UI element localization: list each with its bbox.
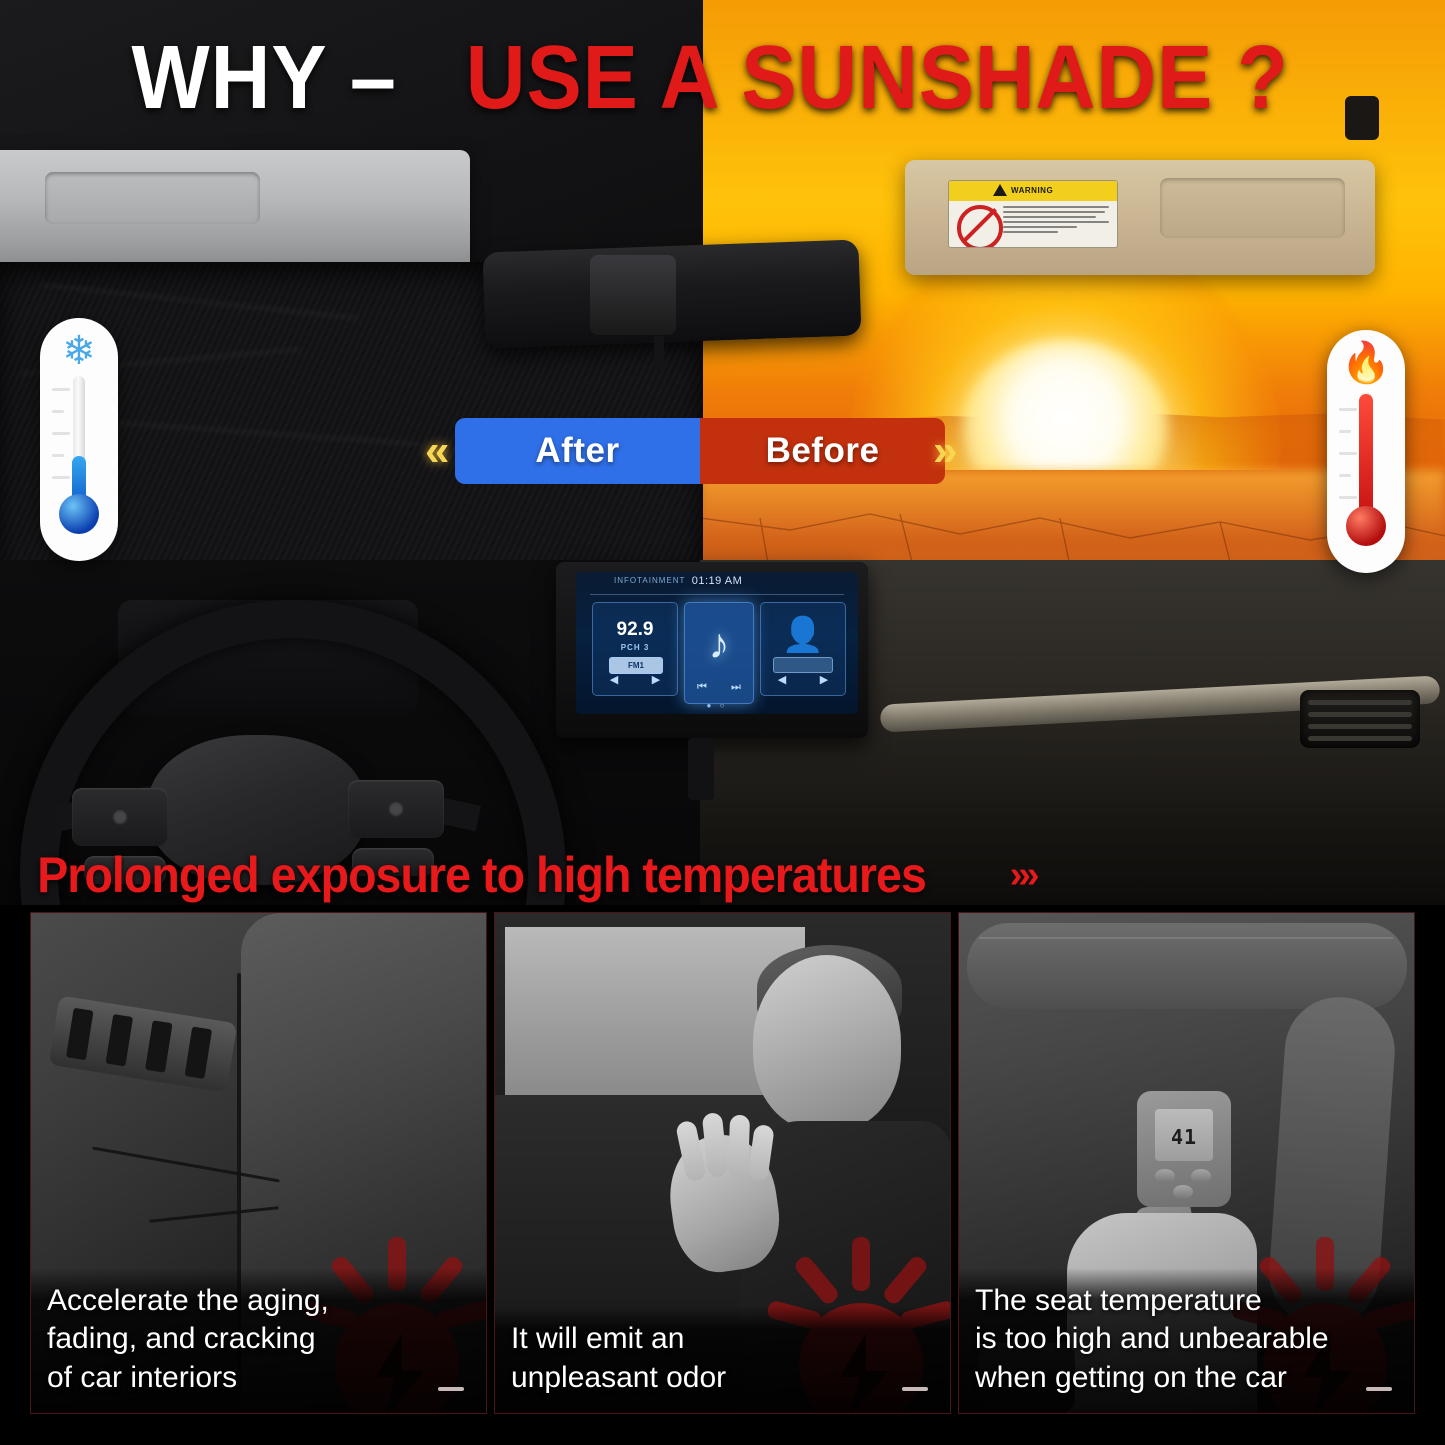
temperature-reading: 41 xyxy=(1155,1125,1213,1149)
heat-warning-banner: Prolonged exposure to high temperatures … xyxy=(0,835,1445,915)
dashboard-air-vent xyxy=(49,995,238,1092)
screen-page-dots[interactable]: ● ○ xyxy=(576,701,858,710)
caption-dash xyxy=(1366,1387,1392,1391)
radio-tile[interactable]: 92.9 PCH 3 FM1 ◀ ▶ xyxy=(592,602,678,696)
chevron-left-icon: « xyxy=(425,428,449,474)
media-next-icon[interactable]: ⏭ xyxy=(731,681,741,694)
radio-frequency: 92.9 xyxy=(593,619,677,641)
sun-visor-left xyxy=(0,150,470,272)
warning-heading: WARNING xyxy=(1011,186,1053,195)
after-badge[interactable]: After xyxy=(455,418,700,484)
contact-name-field xyxy=(773,657,833,673)
panel-caption-text: It will emit an unpleasant odor xyxy=(511,1320,934,1397)
visor-mirror-slot xyxy=(45,172,260,224)
panel-dashboard-aging: Accelerate the aging, fading, and cracki… xyxy=(30,912,487,1414)
wheel-control-right[interactable] xyxy=(348,780,444,838)
finger xyxy=(728,1115,750,1178)
thermometer-bulb-cold xyxy=(59,494,99,534)
panel-caption: The seat temperature is too high and unb… xyxy=(959,1268,1414,1413)
banner-text: Prolonged exposure to high temperatures xyxy=(0,846,926,904)
title-white-part: WHY – xyxy=(132,27,397,130)
snowflake-icon: ❄ xyxy=(40,328,118,374)
music-note-icon: ♪ xyxy=(685,619,753,669)
person-head xyxy=(753,955,901,1131)
airbag-warning-label: WARNING xyxy=(948,180,1118,248)
contact-person-icon: 👤 xyxy=(761,615,845,655)
phone-tile[interactable]: 👤 ◀ ▶ xyxy=(760,602,846,696)
panel-seat-temperature: 41 The seat temperature is xyxy=(958,912,1415,1414)
radio-preset: PCH 3 xyxy=(593,643,677,652)
radio-band-button[interactable]: FM1 xyxy=(609,657,663,674)
hero-comparison-section: WARNING xyxy=(0,0,1445,905)
phone-next-icon[interactable]: ▶ xyxy=(820,673,828,686)
thermometer-bulb-hot xyxy=(1346,506,1386,546)
media-transport[interactable]: ⏮ ⏭ xyxy=(685,681,753,694)
caption-dash xyxy=(438,1387,464,1391)
seat-stitching xyxy=(979,937,1393,939)
seat-headrest xyxy=(967,923,1407,1009)
radio-next-icon[interactable]: ▶ xyxy=(652,673,660,686)
warning-header-bar: WARNING xyxy=(949,181,1117,201)
before-badge[interactable]: Before xyxy=(700,418,945,484)
panel-caption-text: The seat temperature is too high and unb… xyxy=(975,1282,1398,1397)
air-vent-right xyxy=(1300,690,1420,748)
media-tile[interactable]: ♪ ⏮ ⏭ xyxy=(684,602,754,704)
media-prev-icon[interactable]: ⏮ xyxy=(697,681,707,694)
warning-triangle-icon xyxy=(993,184,1007,196)
hot-thermometer: 🔥 xyxy=(1327,330,1405,573)
banner-chevrons-icon: ››› xyxy=(1010,854,1036,897)
warning-body-text xyxy=(1003,206,1109,236)
infographic-root: WARNING xyxy=(0,0,1445,1445)
gun-button-right[interactable] xyxy=(1191,1169,1211,1183)
infotainment-screen[interactable]: INFOTAINMENT 01:19 AM 92.9 PCH 3 FM1 ◀ ▶… xyxy=(576,572,858,714)
radio-prev-icon[interactable]: ◀ xyxy=(610,673,618,686)
panel-caption: Accelerate the aging, fading, and cracki… xyxy=(31,1268,486,1413)
radio-nav[interactable]: ◀ ▶ xyxy=(593,673,677,686)
before-after-toggle[interactable]: After Before xyxy=(455,418,945,484)
panel-unpleasant-odor: It will emit an unpleasant odor xyxy=(494,912,951,1414)
mirror-clip xyxy=(590,255,676,335)
screen-divider xyxy=(590,594,844,595)
panel-caption-text: Accelerate the aging, fading, and cracki… xyxy=(47,1282,470,1397)
no-child-seat-icon xyxy=(957,205,1003,248)
screen-status-bar: INFOTAINMENT 01:19 AM xyxy=(576,572,858,594)
phone-nav[interactable]: ◀ ▶ xyxy=(761,673,845,686)
caption-dash xyxy=(902,1387,928,1391)
flame-icon: 🔥 xyxy=(1327,340,1405,386)
infotainment-mount xyxy=(688,738,714,800)
panel-caption: It will emit an unpleasant odor xyxy=(495,1306,950,1413)
visor-mirror-slot-right xyxy=(1160,178,1345,238)
gun-button-center[interactable] xyxy=(1173,1185,1193,1199)
title-red-part: USE A SUNSHADE ? xyxy=(466,27,1289,130)
phone-prev-icon[interactable]: ◀ xyxy=(778,673,786,686)
page-title: WHY – USE A SUNSHADE ? xyxy=(0,28,1445,128)
mirror-stem xyxy=(654,336,664,370)
gun-button-left[interactable] xyxy=(1155,1169,1175,1183)
consequence-panels: Accelerate the aging, fading, and cracki… xyxy=(0,912,1445,1445)
cold-thermometer: ❄ xyxy=(40,318,118,561)
screen-clock: 01:19 AM xyxy=(576,575,858,587)
chevron-right-icon: » xyxy=(933,428,957,474)
